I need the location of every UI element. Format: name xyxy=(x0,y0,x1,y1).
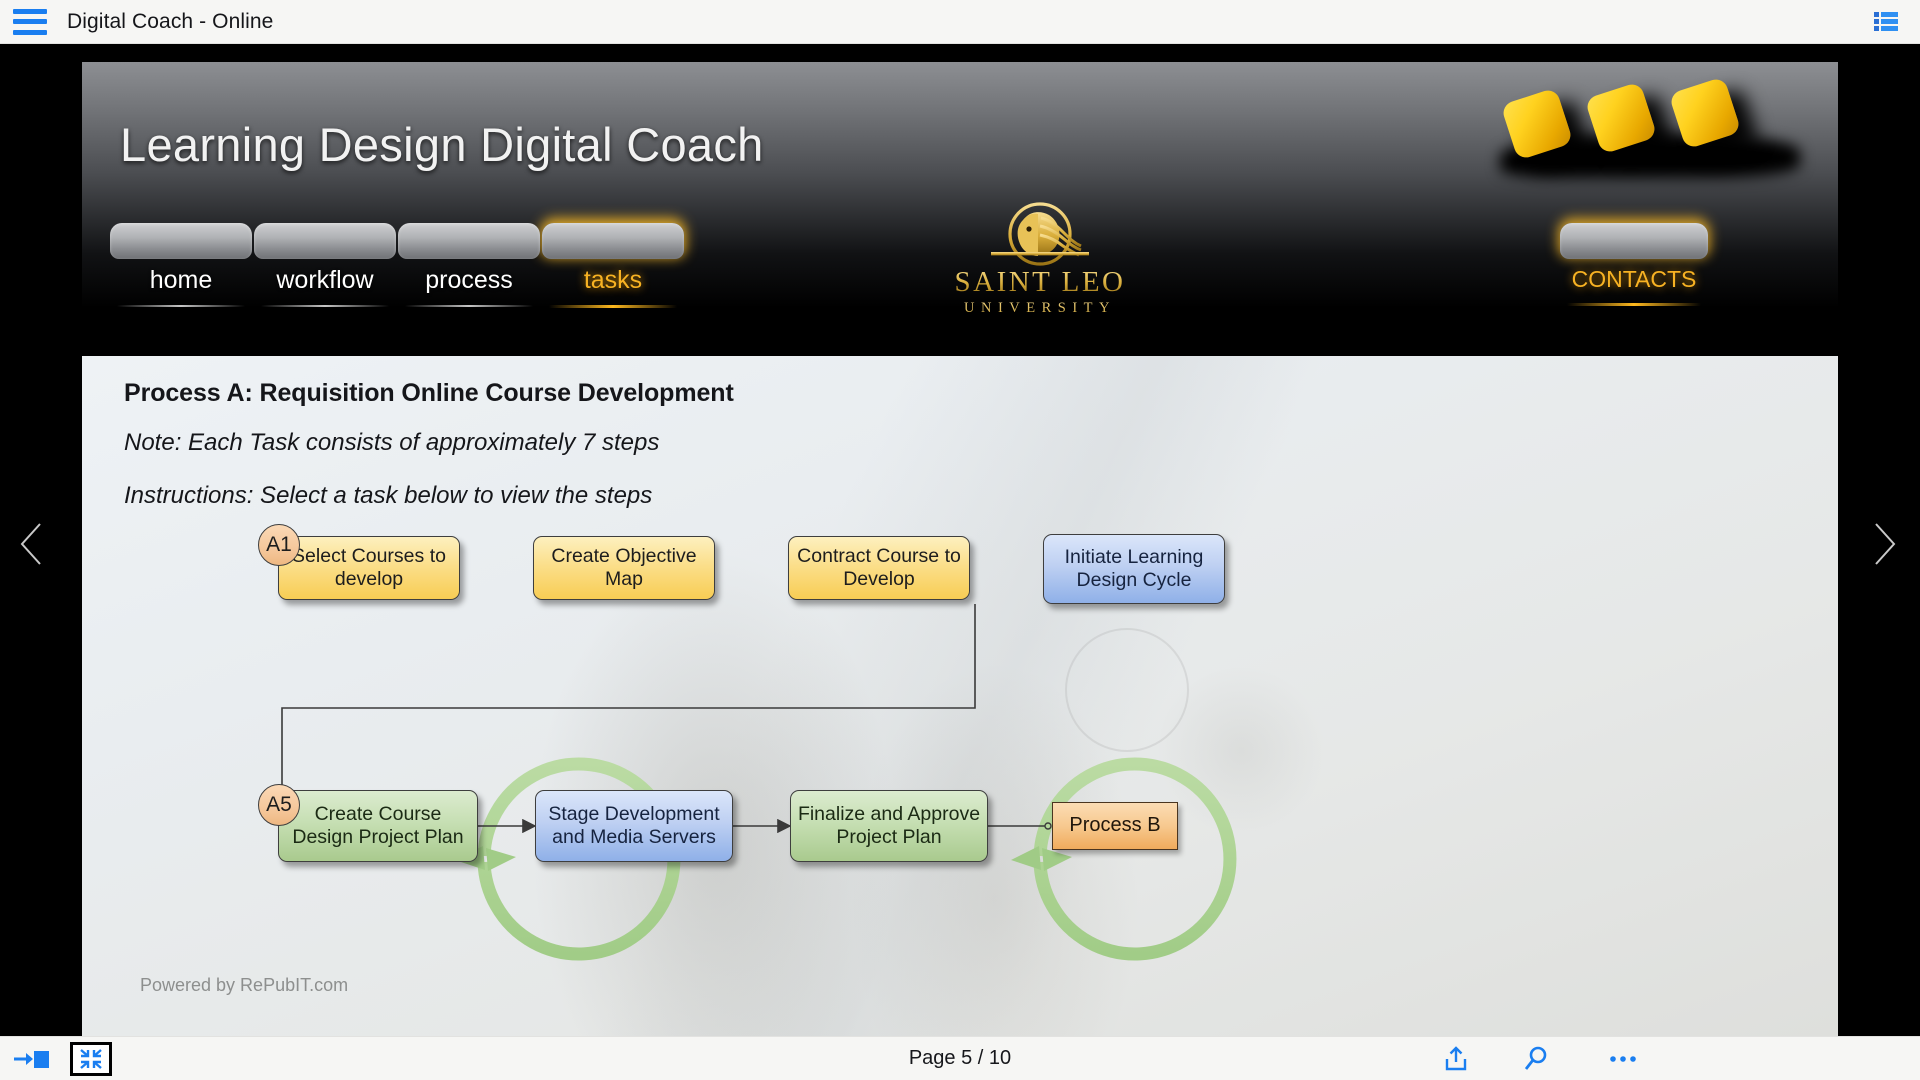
nav-tab-cap xyxy=(398,223,540,259)
nav-tab-label: process xyxy=(398,266,540,295)
badge-a5: A5 xyxy=(258,784,300,826)
flow-node-select-courses[interactable]: Select Courses to develop xyxy=(278,536,460,600)
outline-list-icon[interactable] xyxy=(1874,11,1898,33)
saint-leo-logo: SAINT LEO UNIVERSITY xyxy=(920,202,1160,320)
nav-tab-label: tasks xyxy=(542,266,684,295)
nav-tab-underglow xyxy=(405,305,533,307)
nav-tab-home[interactable]: home xyxy=(110,223,252,307)
slide-title: Learning Design Digital Coach xyxy=(120,117,764,172)
lion-head-icon xyxy=(920,202,1160,268)
nav-tab-tasks[interactable]: tasks xyxy=(542,223,684,308)
flow-node-contract-course[interactable]: Contract Course to Develop xyxy=(788,536,970,600)
flow-node-create-objective-map[interactable]: Create Objective Map xyxy=(533,536,715,600)
nav-tab-process[interactable]: process xyxy=(398,223,540,307)
process-flowchart: A1 A5 Select Courses to develop Create O… xyxy=(82,356,1838,1036)
flow-node-stage-development[interactable]: Stage Development and Media Servers xyxy=(535,790,733,862)
chevron-left-icon[interactable] xyxy=(10,516,54,572)
flowchart-connectors xyxy=(82,356,1838,1036)
logo-wordmark: SAINT LEO xyxy=(920,268,1160,298)
nav-tab-label: workflow xyxy=(254,266,396,295)
slide-content: Process A: Requisition Online Course Dev… xyxy=(82,356,1838,1036)
flow-node-create-course-design-project-plan[interactable]: Create Course Design Project Plan xyxy=(278,790,478,862)
nav-tab-underglow xyxy=(117,305,245,307)
flow-node-initiate-learning-design-cycle[interactable]: Initiate Learning Design Cycle xyxy=(1043,534,1225,604)
slide-viewer-stage: Learning Design Digital Coach tasks home… xyxy=(0,44,1920,1036)
nav-tab-underglow xyxy=(261,305,389,307)
flow-node-process-b[interactable]: Process B xyxy=(1052,802,1178,850)
hamburger-menu-icon[interactable] xyxy=(13,9,47,35)
search-icon[interactable] xyxy=(1522,1045,1550,1078)
nav-tab-contacts[interactable]: CONTACTS xyxy=(1560,223,1708,306)
nav-tab-underglow xyxy=(1567,303,1701,306)
bottom-toolbar: Page 5 / 10 xyxy=(0,1036,1920,1080)
badge-a1: A1 xyxy=(258,524,300,566)
nav-tab-underglow xyxy=(549,305,677,308)
nav-tab-cap xyxy=(1560,223,1708,259)
share-icon[interactable] xyxy=(1442,1045,1470,1078)
nav-tab-label: home xyxy=(110,266,252,295)
nav-tab-cap xyxy=(110,223,252,259)
logo-subwordmark: UNIVERSITY xyxy=(920,300,1160,317)
nav-tab-cap xyxy=(542,223,684,259)
flow-node-finalize-approve-project-plan[interactable]: Finalize and Approve Project Plan xyxy=(790,790,988,862)
title-bar: Digital Coach - Online xyxy=(0,0,1920,44)
slide: Learning Design Digital Coach tasks home… xyxy=(82,62,1838,1036)
nav-tab-label: CONTACTS xyxy=(1560,266,1708,293)
nav-tab-cap xyxy=(254,223,396,259)
nav-tab-workflow[interactable]: workflow xyxy=(254,223,396,307)
chevron-right-icon[interactable] xyxy=(1862,516,1906,572)
app-title: Digital Coach - Online xyxy=(67,10,273,34)
powered-by-label: Powered by RePubIT.com xyxy=(140,975,348,996)
more-options-icon[interactable] xyxy=(1608,1045,1638,1078)
